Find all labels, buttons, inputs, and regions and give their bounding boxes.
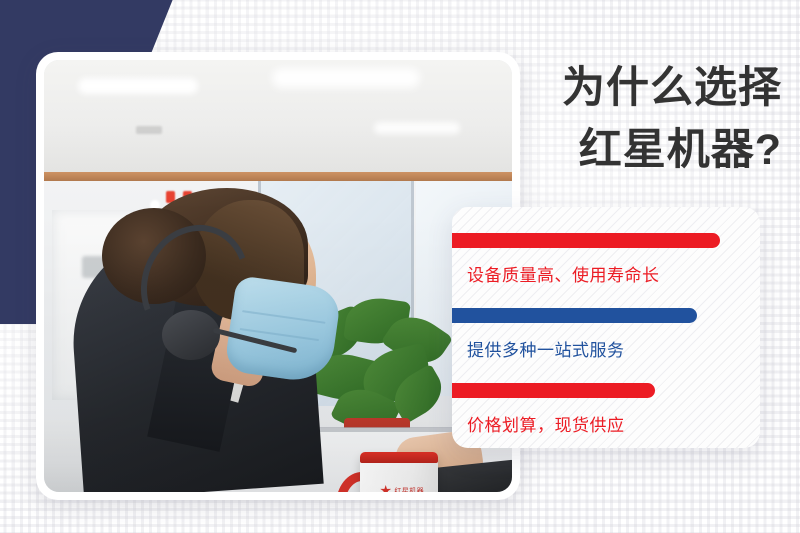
photo-mug-rim: [360, 452, 438, 463]
poster-canvas: 红星机器 为什么选择 红星机器? 设备质量高、使用寿命长 提供多种一站式服务 价…: [0, 0, 800, 533]
photo-ceiling-light: [272, 68, 420, 88]
headline-line-2: 红星机器?: [520, 120, 782, 182]
photo-ceiling-light: [78, 78, 198, 94]
feature-bar-1: [452, 233, 720, 248]
star-icon: [380, 485, 391, 492]
feature-text-2: 提供多种一站式服务: [452, 336, 760, 361]
photo-ceiling-vent: [136, 126, 162, 134]
feature-item-3: 价格划算，现货供应: [452, 383, 760, 436]
page-title: 为什么选择 红星机器?: [520, 58, 782, 182]
headline-line-1: 为什么选择: [520, 58, 782, 120]
feature-bar-3: [452, 383, 655, 398]
photo-card: 红星机器: [36, 52, 520, 500]
feature-text-3: 价格划算，现货供应: [452, 411, 760, 436]
customer-service-photo: 红星机器: [44, 60, 512, 492]
feature-text-1: 设备质量高、使用寿命长: [452, 261, 760, 286]
features-list: 设备质量高、使用寿命长 提供多种一站式服务 价格划算，现货供应: [452, 207, 760, 436]
features-card: 设备质量高、使用寿命长 提供多种一站式服务 价格划算，现货供应: [452, 207, 760, 448]
photo-wood-beam: [44, 172, 512, 181]
photo-mask-pleat: [242, 310, 325, 324]
feature-bar-2: [452, 308, 697, 323]
photo-ceiling-light: [374, 122, 460, 134]
feature-item-1: 设备质量高、使用寿命长: [452, 233, 760, 286]
mug-logo-text: 红星机器: [394, 486, 424, 493]
feature-item-2: 提供多种一站式服务: [452, 308, 760, 361]
photo-mug-logo: 红星机器: [380, 484, 424, 492]
photo-headset-earcup: [162, 310, 220, 360]
